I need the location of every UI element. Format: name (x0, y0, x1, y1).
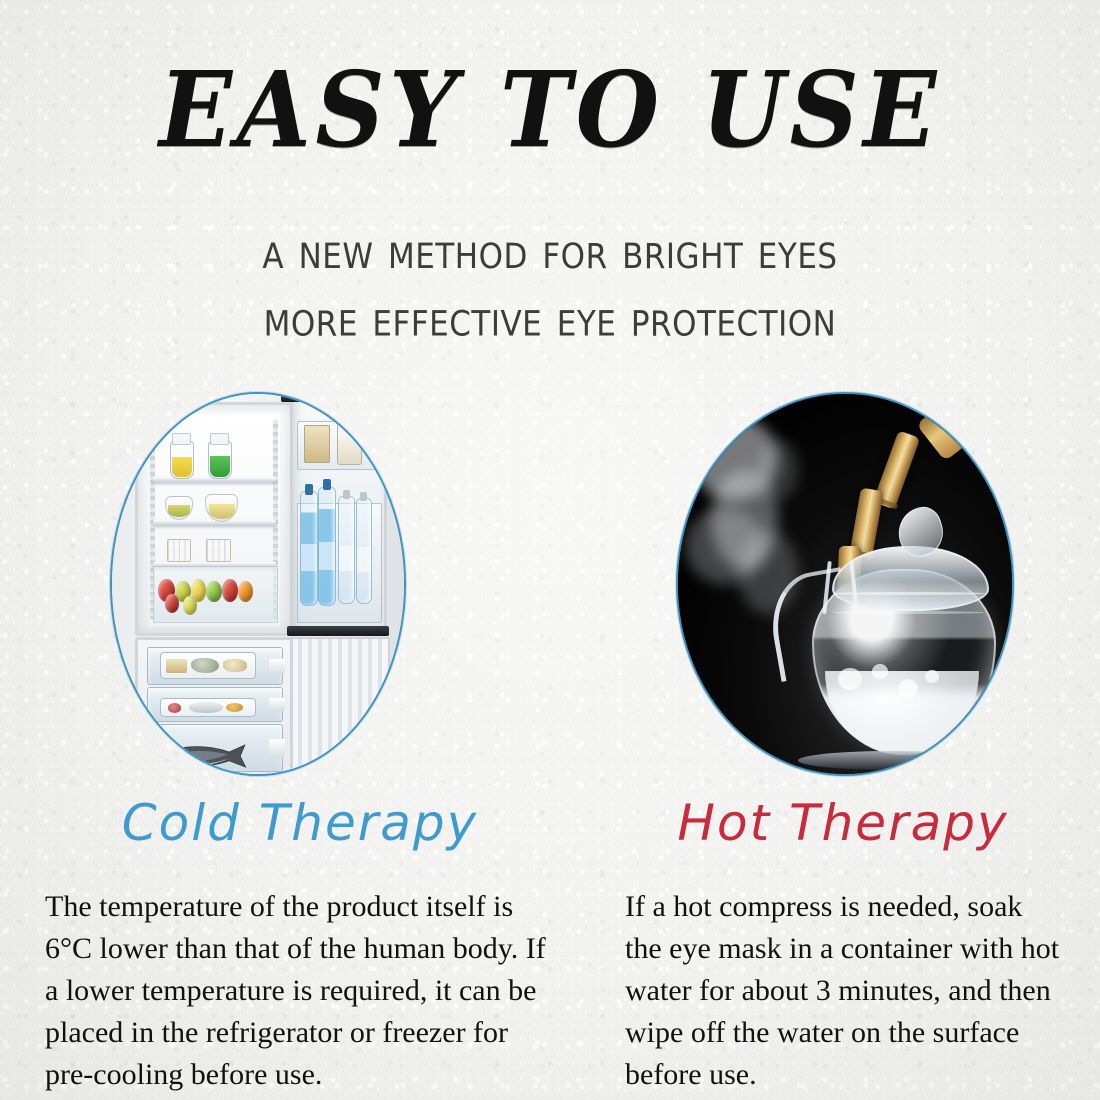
food-jar (208, 441, 232, 479)
page-title: EASY TO USE (44, 62, 1056, 158)
bamboo-handle-segment (917, 407, 967, 460)
hot-therapy-label: Hot Therapy (668, 795, 1018, 851)
fruit-apple-red (222, 579, 238, 602)
freezer-door-panel (290, 637, 390, 776)
freezer-tray (160, 652, 256, 679)
freezer-door-handle (287, 626, 389, 636)
hot-therapy-image-circle (676, 392, 1014, 776)
freezer-tray (160, 698, 256, 718)
stored-food (168, 703, 181, 713)
jar-neck (210, 433, 229, 446)
stored-food (226, 703, 243, 712)
stored-food (191, 658, 219, 673)
water-bubble (925, 670, 938, 683)
frozen-fish-icon (157, 741, 251, 771)
water-bubble (838, 668, 861, 691)
hot-therapy-description: If a hot compress is needed, soak the ey… (625, 886, 1065, 1096)
refrigerator-illustration (112, 394, 404, 774)
fridge-door (290, 394, 387, 636)
water-bottle (300, 491, 317, 606)
subtitle-line-1: A New Method for Bright Eyes (0, 219, 1100, 286)
glass-jar (337, 423, 363, 465)
cold-therapy-label: Cold Therapy (110, 795, 490, 851)
fridge-cabinet (135, 402, 293, 636)
egg-tray (206, 539, 230, 562)
egg-tray (167, 539, 191, 562)
teapot-base-stand (798, 751, 985, 770)
water-bottle-clear (338, 496, 354, 604)
fridge-top-trim (281, 394, 345, 402)
water-bottle (318, 487, 335, 607)
cold-therapy-image-circle (110, 392, 406, 776)
steam-wisp (758, 440, 798, 501)
freezer-compartment (135, 637, 293, 776)
fruit-apple-red (165, 594, 179, 613)
teapot-highlight-ring (832, 611, 986, 614)
water-bottle-clear (356, 498, 372, 604)
fridge-cabinet-interior (149, 414, 280, 626)
frozen-fish-small (189, 702, 223, 713)
butter-container (304, 425, 330, 462)
food-bowl (205, 494, 238, 521)
food-bowl (165, 496, 193, 519)
stored-food (223, 659, 247, 672)
subtitle-block: A New Method for Bright Eyes More Effect… (0, 219, 1100, 353)
stored-food (166, 659, 187, 673)
cold-therapy-description: The temperature of the product itself is… (45, 886, 560, 1096)
jar-neck (172, 433, 191, 446)
food-jar (170, 441, 194, 479)
subtitle-line-2: More Effective Eye Protection (0, 286, 1100, 353)
teapot-illustration (678, 394, 1012, 774)
